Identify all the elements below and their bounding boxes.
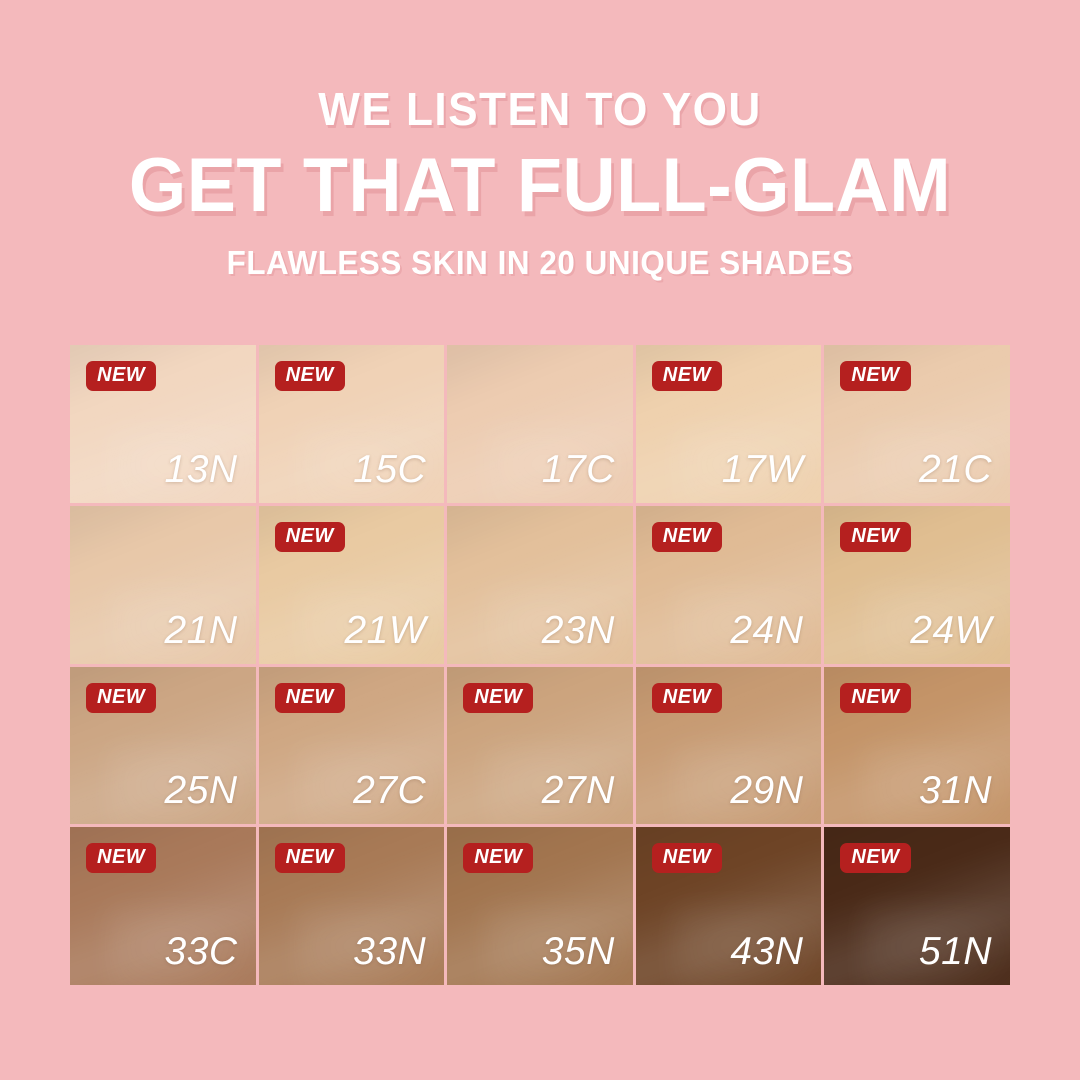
shade-swatch[interactable]: NEW17W — [636, 345, 822, 503]
shade-label: 13N — [165, 450, 238, 489]
shade-label: 25N — [165, 771, 238, 810]
swatch-texture-streak-icon — [636, 667, 822, 762]
shade-label: 51N — [919, 932, 992, 971]
shade-swatch[interactable]: NEW43N — [636, 827, 822, 985]
swatch-texture-streak-icon — [447, 345, 633, 440]
new-badge: NEW — [463, 843, 533, 873]
new-badge: NEW — [463, 683, 533, 713]
headline-eyebrow: WE LISTEN TO YOU — [22, 86, 1059, 132]
new-badge: NEW — [86, 361, 156, 391]
swatch-texture-streak-icon — [259, 827, 445, 922]
swatch-texture-streak-icon — [259, 506, 445, 601]
shade-swatch[interactable]: NEW31N — [824, 667, 1010, 825]
swatch-texture-streak-icon — [447, 667, 633, 762]
swatch-texture-streak-icon — [447, 827, 633, 922]
shade-label: 21N — [165, 611, 238, 650]
shade-label: 24N — [730, 611, 803, 650]
shade-label: 23N — [542, 611, 615, 650]
shade-label: 21C — [919, 450, 992, 489]
swatch-texture-streak-icon — [636, 345, 822, 440]
shade-swatch[interactable]: NEW33N — [259, 827, 445, 985]
shade-label: 17C — [542, 450, 615, 489]
shade-label: 17W — [722, 450, 804, 489]
shade-label: 27C — [353, 771, 426, 810]
poster-header: WE LISTEN TO YOU GET THAT FULL-GLAM FLAW… — [0, 0, 1080, 279]
shade-swatch[interactable]: NEW13N — [70, 345, 256, 503]
headline-subtitle: FLAWLESS SKIN IN 20 UNIQUE SHADES — [27, 246, 1053, 279]
shade-label: 33N — [353, 932, 426, 971]
new-badge: NEW — [840, 843, 910, 873]
shade-swatch[interactable]: NEW24W — [824, 506, 1010, 664]
shade-swatch[interactable]: NEW21W — [259, 506, 445, 664]
new-badge: NEW — [840, 522, 910, 552]
shade-label: 24W — [910, 611, 992, 650]
shade-label: 35N — [542, 932, 615, 971]
new-badge: NEW — [652, 683, 722, 713]
new-badge: NEW — [652, 843, 722, 873]
shade-swatch[interactable]: NEW23N — [447, 506, 633, 664]
new-badge: NEW — [275, 843, 345, 873]
shade-label: 27N — [542, 771, 615, 810]
shade-swatch[interactable]: NEW17C — [447, 345, 633, 503]
headline-main: GET THAT FULL-GLAM — [16, 148, 1064, 224]
swatch-texture-streak-icon — [70, 506, 256, 601]
shade-swatch[interactable]: NEW51N — [824, 827, 1010, 985]
shade-swatch[interactable]: NEW33C — [70, 827, 256, 985]
swatch-texture-streak-icon — [447, 506, 633, 601]
swatch-texture-streak-icon — [70, 345, 256, 440]
new-badge: NEW — [652, 361, 722, 391]
shade-label: 31N — [919, 771, 992, 810]
new-badge: NEW — [652, 522, 722, 552]
shade-swatch[interactable]: NEW24N — [636, 506, 822, 664]
shade-swatch[interactable]: NEW21C — [824, 345, 1010, 503]
shade-label: 21W — [344, 611, 426, 650]
new-badge: NEW — [275, 522, 345, 552]
new-badge: NEW — [840, 361, 910, 391]
swatch-texture-streak-icon — [636, 827, 822, 922]
new-badge: NEW — [86, 843, 156, 873]
shade-swatch[interactable]: NEW35N — [447, 827, 633, 985]
shade-swatch[interactable]: NEW25N — [70, 667, 256, 825]
shade-swatch[interactable]: NEW27C — [259, 667, 445, 825]
shade-swatch[interactable]: NEW29N — [636, 667, 822, 825]
swatch-texture-streak-icon — [824, 667, 1010, 762]
shade-swatch[interactable]: NEW15C — [259, 345, 445, 503]
shade-swatch-grid: NEW13NNEW15CNEW17CNEW17WNEW21CNEW21NNEW2… — [70, 345, 1010, 985]
swatch-texture-streak-icon — [824, 345, 1010, 440]
shade-label: 33C — [165, 932, 238, 971]
swatch-texture-streak-icon — [636, 506, 822, 601]
shade-range-poster: WE LISTEN TO YOU GET THAT FULL-GLAM FLAW… — [0, 0, 1080, 1080]
swatch-texture-streak-icon — [824, 827, 1010, 922]
new-badge: NEW — [840, 683, 910, 713]
swatch-texture-streak-icon — [824, 506, 1010, 601]
swatch-texture-streak-icon — [259, 667, 445, 762]
shade-swatch[interactable]: NEW21N — [70, 506, 256, 664]
swatch-texture-streak-icon — [70, 827, 256, 922]
new-badge: NEW — [275, 683, 345, 713]
new-badge: NEW — [86, 683, 156, 713]
new-badge: NEW — [275, 361, 345, 391]
shade-label: 15C — [353, 450, 426, 489]
swatch-texture-streak-icon — [70, 667, 256, 762]
swatch-texture-streak-icon — [259, 345, 445, 440]
shade-label: 29N — [730, 771, 803, 810]
shade-swatch[interactable]: NEW27N — [447, 667, 633, 825]
shade-label: 43N — [730, 932, 803, 971]
